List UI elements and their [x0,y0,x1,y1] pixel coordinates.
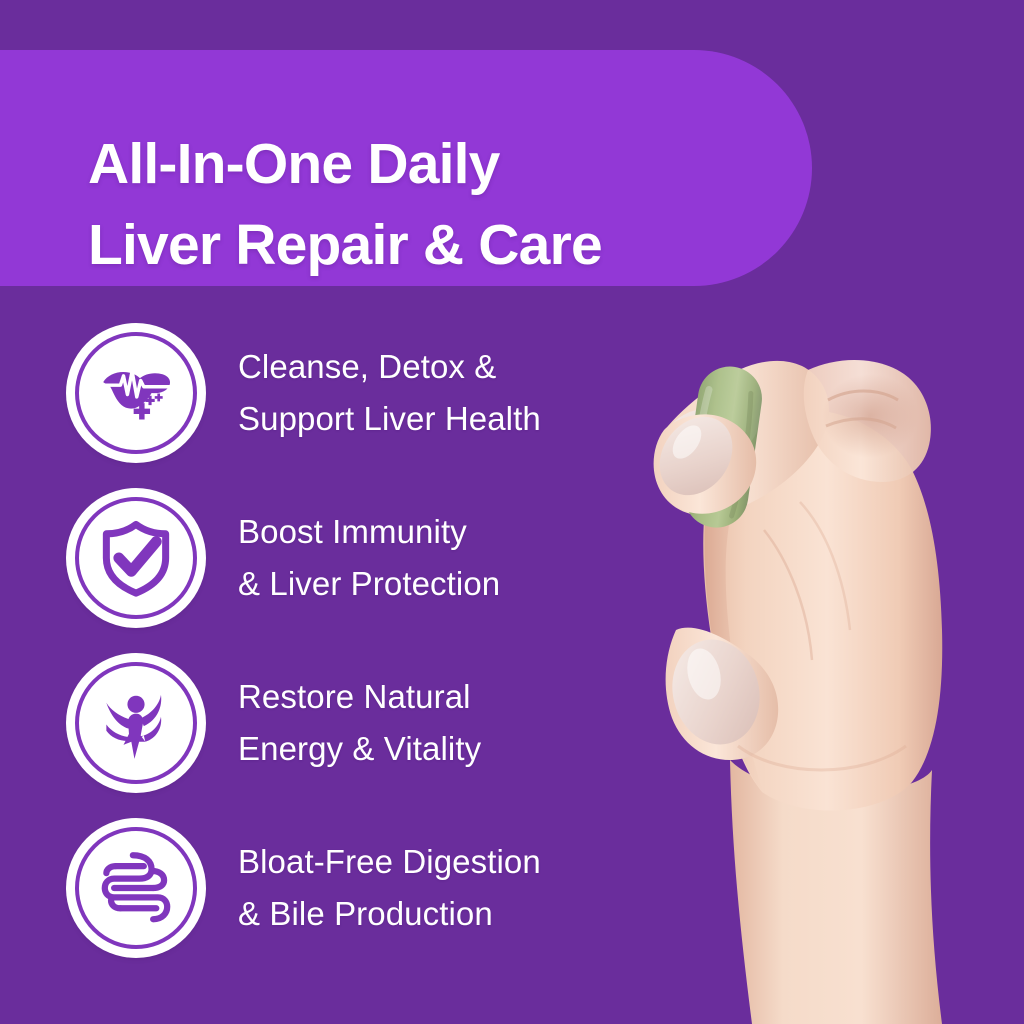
liver-heartbeat-icon [97,354,175,432]
energetic-person-icon [97,684,175,762]
benefits-list: Cleanse, Detox & Support Liver Health Bo… [70,327,690,954]
benefit-icon-badge [70,822,202,954]
page-title-line-1: All-In-One Daily [88,124,788,205]
benefit-label-line-2: & Liver Protection [238,558,500,610]
benefit-label-line-1: Bloat-Free Digestion [238,836,541,888]
benefit-label-line-1: Boost Immunity [238,506,500,558]
benefit-label-line-2: Support Liver Health [238,393,541,445]
benefit-label-line-1: Restore Natural [238,671,481,723]
list-item: Cleanse, Detox & Support Liver Health [70,327,690,459]
benefit-label: Cleanse, Detox & Support Liver Health [238,341,541,445]
list-item: Restore Natural Energy & Vitality [70,657,690,789]
benefit-label-line-2: & Bile Production [238,888,541,940]
list-item: Boost Immunity & Liver Protection [70,492,690,624]
benefit-label: Boost Immunity & Liver Protection [238,506,500,610]
benefit-icon-badge [70,657,202,789]
page-title-line-2: Liver Repair & Care [88,205,788,286]
intestine-gut-icon [97,849,175,927]
benefit-icon-badge [70,327,202,459]
benefit-icon-badge [70,492,202,624]
benefit-label: Bloat-Free Digestion & Bile Production [238,836,541,940]
hand-illustration [612,330,1024,1024]
knuckle-shading [822,374,918,458]
benefit-label-line-2: Energy & Vitality [238,723,481,775]
product-feature-card: All-In-One Daily Liver Repair & Care Cle… [0,0,1024,1024]
benefit-label: Restore Natural Energy & Vitality [238,671,481,775]
list-item: Bloat-Free Digestion & Bile Production [70,822,690,954]
header-banner: All-In-One Daily Liver Repair & Care [0,50,812,286]
shield-check-icon [97,519,175,597]
page-title: All-In-One Daily Liver Repair & Care [88,124,788,286]
hand-holding-capsule-photo [612,330,1024,1024]
benefit-label-line-1: Cleanse, Detox & [238,341,541,393]
